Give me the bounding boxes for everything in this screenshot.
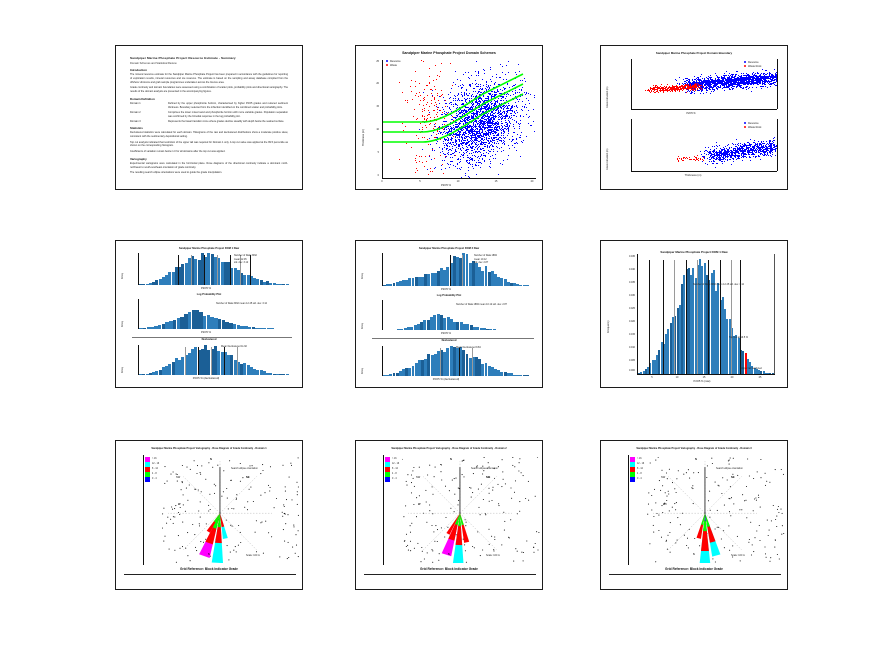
section-paragraph: The resulting search ellipse orientation…: [130, 171, 288, 175]
compass-south: S: [208, 553, 210, 556]
section-paragraph: Experimental variograms were calculated …: [130, 162, 288, 170]
rose-plot-area: [402, 457, 540, 563]
boundary-curve-3: [383, 94, 523, 142]
scale-note: Scale: 100 m: [731, 554, 745, 557]
x-tick: 10: [452, 180, 464, 183]
compass-northeast: NE: [486, 476, 490, 479]
panel-histogram-stack-dom2: Sandpiper Marine Phosphate Project DOM 2…: [355, 240, 543, 388]
x-axis-label: P2O5 %: [171, 287, 241, 290]
chart-caption: Grid Reference: Block Indicator Grade: [356, 567, 542, 571]
document-body: Sandpiper Marine Phosphate Project Resou…: [116, 46, 302, 189]
legend-label: Resource: [748, 61, 759, 64]
x-axis-line-bottom: [631, 171, 777, 172]
panel-text-document: Sandpiper Marine Phosphate Project Resou…: [115, 45, 303, 190]
caption-rule: [124, 574, 296, 575]
legend-colorbar: [385, 457, 390, 482]
x-tick: 5: [414, 180, 426, 183]
definition-row: Domain 3 Represents the basal transition…: [130, 120, 288, 124]
section-heading-domain: Domain Definition: [130, 97, 288, 101]
legend-label: Resource: [748, 122, 759, 125]
y-axis-label: Freq.: [361, 273, 364, 279]
definition-row: Domain 2 Comprises the lower mixed sand …: [130, 111, 288, 119]
histogram-plot-area: [139, 253, 289, 285]
section-heading-intro: Introduction: [130, 68, 288, 72]
legend-label: 12 - 16: [637, 463, 644, 465]
compass-west: W: [178, 503, 180, 506]
legend-label: 8 - 12: [152, 468, 158, 470]
legend-swatch-4: [385, 477, 390, 482]
panel-rose-diagram-domain2: Sandpiper Marine Phosphate Project Vario…: [355, 440, 543, 590]
y-axis-label-top: Grade Elevation (m): [606, 87, 609, 108]
legend-swatch-resource: [744, 122, 746, 124]
definition-key: Domain 1: [130, 102, 164, 110]
legend-label: > 16: [392, 458, 397, 460]
stat-line: std. dev. 3.12: [234, 261, 257, 265]
histogram-plot-area: [638, 254, 774, 374]
histogram-stack: Sandpiper Marine Phosphate Project DOM 2…: [356, 241, 542, 387]
compass-south: S: [448, 553, 450, 556]
compass-northwest: SW: [416, 476, 420, 479]
x-axis-label: P2O5 % (declustered): [406, 378, 486, 381]
x-axis-label-top: P2O5 %: [671, 112, 711, 115]
legend-label: 0 - 4: [637, 478, 642, 480]
chart-caption: Grid Reference: Block Indicator Grade: [601, 567, 787, 571]
stats-block: Number of Data 3462 mean 12.45 std. dev.…: [234, 254, 257, 265]
compass-west: W: [418, 503, 420, 506]
chart-caption: Grid Reference: Block Indicator Grade: [116, 567, 302, 571]
y-tick: 0.015: [613, 333, 635, 336]
x-tick: 5: [645, 376, 659, 379]
subchart-title: Log Probability Plot: [356, 294, 542, 297]
legend-label: > 16: [152, 458, 157, 460]
y-axis-label: Freq.: [361, 323, 364, 329]
chart-title: Sandpiper Marine Phosphate Project Domai…: [601, 51, 787, 55]
y-tick: 20: [362, 82, 379, 85]
x-axis-label-bottom: Thickness (m): [671, 174, 715, 177]
scale-note: Scale: 100 m: [246, 554, 260, 557]
dual-scatter-chart: Sandpiper Marine Phosphate Project Domai…: [601, 46, 787, 189]
rose-chart: Sandpiper Marine Phosphate Project Vario…: [116, 441, 302, 589]
y-axis-label: Freq.: [361, 368, 364, 374]
caption-rule: [609, 574, 781, 575]
y-axis-label-bottom: Grade Elevation (m): [606, 149, 609, 170]
x-axis-label: P2O5 %: [171, 331, 241, 334]
definition-key: Domain 3: [130, 120, 164, 124]
x-tick: 15: [490, 180, 502, 183]
legend-label: 8 - 12: [637, 468, 643, 470]
footnote-heading: Notes to the figures:: [130, 189, 288, 190]
legend-label: Waste Rock: [748, 65, 761, 68]
chart-title: Sandpiper Marine Phosphate Project Vario…: [356, 447, 542, 450]
x-axis-line: [382, 178, 536, 179]
compass-north: N: [210, 458, 212, 461]
chart-title: Sandpiper Marine Phosphate Project Domai…: [356, 51, 542, 55]
right-axis-line: [774, 254, 775, 374]
compass-northwest: SW: [661, 476, 665, 479]
histogram-stack: Sandpiper Marine Phosphate Project DOM 1…: [116, 241, 302, 387]
subchart-title: Declustered: [116, 338, 302, 341]
panel-rose-diagram-domain3: Sandpiper Marine Phosphate Project Vario…: [600, 440, 788, 590]
legend-label: 4 - 8: [392, 473, 397, 475]
y-tick: 5: [362, 151, 379, 154]
legend-label: 12 - 16: [152, 463, 159, 465]
stat-line: Mean Declustered 11.92: [221, 345, 247, 348]
document-subtitle: Domain Schemes and Statistical Review: [130, 62, 288, 65]
panel-dual-scatter-boundary: Sandpiper Marine Phosphate Project Domai…: [600, 45, 788, 190]
search-ellipse-annotation: Search ellipse orientation: [231, 467, 258, 470]
legend-axis-line: [383, 455, 384, 565]
legend-label: > 16: [637, 458, 642, 460]
y-axis-label: Frequency: [607, 320, 610, 333]
x-tick: 20: [725, 376, 739, 379]
panel-scatter-domain-schemes: Sandpiper Marine Phosphate Project Domai…: [355, 45, 543, 190]
compass-north: N: [695, 458, 697, 461]
y-axis-label: Freq.: [121, 273, 124, 279]
x-axis-label: P2O5 %: [411, 332, 481, 335]
x-tick: 20: [526, 180, 538, 183]
legend-swatch-4: [630, 477, 635, 482]
histogram-chart: Sandpiper Marine Phosphate Project DOM 1…: [601, 241, 787, 387]
legend-axis-line: [628, 455, 629, 565]
document-footnotes: Notes to the figures: All grades are rep…: [130, 189, 288, 190]
histogram-plot-area: [139, 345, 289, 375]
right-axis-line-top: [777, 59, 778, 109]
tail-label: Upper tail restricted: [741, 367, 762, 370]
compass-northeast: NE: [246, 476, 250, 479]
y-tick: 0.030: [613, 294, 635, 297]
definition-value: Represents the basal transition zone whe…: [168, 120, 288, 124]
boundary-curve-2: [383, 84, 523, 132]
y-axis-label: Freq.: [121, 321, 124, 327]
stat-line: Number of Data 1884 mean 10.12 std. dev.…: [456, 303, 507, 306]
legend-label: Waste Rock: [748, 126, 761, 129]
panel-rose-diagram-domain1: Sandpiper Marine Phosphate Project Vario…: [115, 440, 303, 590]
y-tick: 0.005: [613, 359, 635, 362]
panel-histogram-stack-dom1: Sandpiper Marine Phosphate Project DOM 1…: [115, 240, 303, 388]
rose-chart: Sandpiper Marine Phosphate Project Vario…: [356, 441, 542, 589]
legend-swatch-4: [145, 477, 150, 482]
rose-plot-area: [647, 457, 785, 563]
section-paragraph: Top cut analysis indicated that restrict…: [130, 141, 288, 149]
caption-rule: [364, 574, 536, 575]
subchart-title: Sandpiper Marine Phosphate Project DOM 2…: [356, 247, 542, 250]
definition-key: Domain 2: [130, 111, 164, 119]
chart-legend-bottom: Resource Waste Rock: [744, 122, 761, 130]
y-tick: 0.040: [613, 268, 635, 271]
document-title: Sandpiper Marine Phosphate Project Resou…: [130, 57, 288, 61]
domain-boundary-curves: [383, 60, 536, 178]
x-tick: 25: [753, 376, 767, 379]
compass-north: N: [450, 458, 452, 461]
legend-label: 4 - 8: [152, 473, 157, 475]
y-axis-label: Thickness (m): [362, 129, 365, 146]
x-tick: 0: [376, 180, 388, 183]
legend-swatch-resource: [744, 61, 746, 63]
histogram-plot-area: [383, 346, 529, 376]
y-tick: 0.000: [613, 369, 635, 372]
definition-row: Domain 1 Defined by the upper phosphorit…: [130, 102, 288, 110]
section-paragraph: Grade continuity and domain boundaries w…: [130, 86, 288, 94]
compass-northwest: SW: [176, 476, 180, 479]
compass-west: W: [663, 503, 665, 506]
legend-entry: Waste Rock: [744, 65, 761, 69]
stats-label: Number of Data 3462 mean 12.45 std. dev.…: [693, 283, 744, 286]
section-paragraph: Coefficients of variation remain below 1…: [130, 150, 288, 154]
y-tick: 0.025: [613, 307, 635, 310]
section-paragraph: The mineral resource estimate for the Sa…: [130, 73, 288, 85]
y-tick: 25: [362, 60, 379, 63]
legend-label: 0 - 4: [152, 478, 157, 480]
x-axis-label: P2O5 %: [416, 184, 476, 187]
y-tick: 0.045: [613, 255, 635, 258]
scale-note: Scale: 100 m: [486, 554, 500, 557]
x-axis-label: P2O5 % (declustered): [166, 377, 246, 380]
histogram-plot-area: [383, 253, 529, 286]
right-axis-line-bottom: [777, 119, 778, 171]
chart-title: Sandpiper Marine Phosphate Project Vario…: [601, 447, 787, 450]
chart-legend-top: Resource Waste Rock: [744, 61, 761, 69]
section-heading-stats: Statistics: [130, 126, 288, 130]
x-tick: 15: [697, 376, 711, 379]
legend-colorbar: [630, 457, 635, 482]
x-axis-line-top: [631, 109, 777, 110]
subchart-title: Log Probability Plot: [116, 293, 302, 296]
legend-swatch-waste: [744, 126, 746, 128]
legend-swatch-waste: [744, 65, 746, 67]
y-tick: 0.035: [613, 281, 635, 284]
legend-label: 4 - 8: [637, 473, 642, 475]
definition-value: Defined by the upper phosphorite horizon…: [168, 102, 288, 110]
chart-title: Sandpiper Marine Phosphate Project Vario…: [116, 447, 302, 450]
scatter-chart: Sandpiper Marine Phosphate Project Domai…: [356, 46, 542, 189]
search-ellipse-annotation: Search ellipse orientation: [716, 467, 743, 470]
subchart-title: Declustered: [356, 339, 542, 342]
legend-entry: Waste Rock: [744, 126, 761, 130]
search-ellipse-annotation: Search ellipse orientation: [471, 467, 498, 470]
stat-line: std. dev. 2.87: [474, 261, 497, 265]
rose-chart: Sandpiper Marine Phosphate Project Vario…: [601, 441, 787, 589]
x-axis-line: [637, 374, 775, 375]
legend-label: 12 - 16: [392, 463, 399, 465]
stat-line: Number of Data 3462 mean 12.45 std. dev.…: [216, 302, 267, 305]
y-tick: 0: [362, 174, 379, 177]
subchart-title: Sandpiper Marine Phosphate Project DOM 1…: [116, 247, 302, 250]
section-heading-variography: Variography: [130, 157, 288, 161]
y-tick: 0.010: [613, 346, 635, 349]
section-paragraph: Declustered statistics were calculated f…: [130, 131, 288, 139]
compass-northeast: NE: [731, 476, 735, 479]
stats-block: Number of Data 1884 mean 10.12 std. dev.…: [474, 254, 497, 265]
slide-sheet: Sandpiper Marine Phosphate Project Resou…: [0, 0, 875, 656]
compass-south: S: [693, 553, 695, 556]
x-axis-label: P2O5 % (raw): [667, 380, 737, 383]
y-axis-label: Freq.: [121, 367, 124, 373]
legend-label: 0 - 4: [392, 478, 397, 480]
topcut-label: Top Cut at 19.5 %: [729, 336, 748, 339]
stat-line: Mean Declustered 9.84: [456, 346, 481, 349]
legend-colorbar: [145, 457, 150, 482]
boundary-curve-1: [383, 74, 523, 122]
rose-plot-area: [162, 457, 300, 563]
panel-histogram-large: Sandpiper Marine Phosphate Project DOM 1…: [600, 240, 788, 388]
legend-label: 8 - 12: [392, 468, 398, 470]
x-tick: 10: [670, 376, 684, 379]
y-tick: 0.020: [613, 320, 635, 323]
x-axis-label: P2O5 %: [411, 288, 481, 291]
y-tick: 15: [362, 105, 379, 108]
definition-value: Comprises the lower mixed sand and phosp…: [168, 111, 288, 119]
legend-axis-line: [143, 455, 144, 565]
